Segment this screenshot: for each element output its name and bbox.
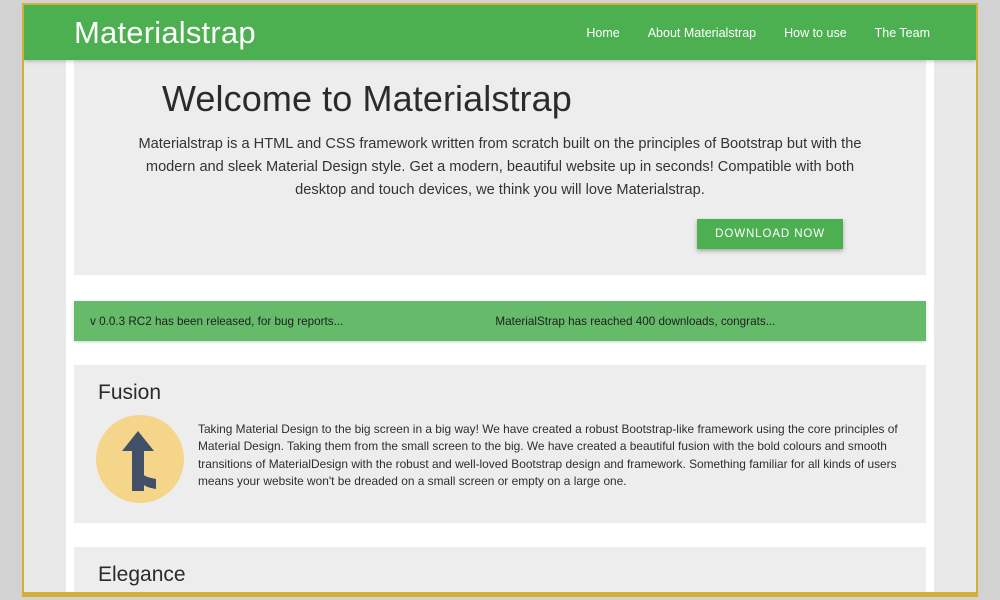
nav-link-home[interactable]: Home xyxy=(586,26,619,40)
feature-text-fusion: Taking Material Design to the big screen… xyxy=(198,415,900,491)
feature-body-fusion: Taking Material Design to the big screen… xyxy=(96,415,900,503)
feature-title-fusion: Fusion xyxy=(98,381,900,405)
brand-logo[interactable]: Materialstrap xyxy=(74,15,256,51)
announcement-item-downloads[interactable]: MaterialStrap has reached 400 downloads,… xyxy=(495,315,775,328)
announcement-item-release[interactable]: v 0.0.3 RC2 has been released, for bug r… xyxy=(90,315,343,328)
feature-card-elegance: Elegance We believe xyxy=(74,547,926,597)
nav-link-how-to-use[interactable]: How to use xyxy=(784,26,847,40)
nav-link-the-team[interactable]: The Team xyxy=(875,26,930,40)
merge-arrow-icon xyxy=(96,415,184,503)
nav-link-about-materialstrap[interactable]: About Materialstrap xyxy=(648,26,756,40)
page-scroll-area[interactable]: Welcome to Materialstrap Materialstrap i… xyxy=(24,60,976,597)
gutter-left xyxy=(24,60,66,597)
feature-title-elegance: Elegance xyxy=(98,563,900,587)
announcement-banner: v 0.0.3 RC2 has been released, for bug r… xyxy=(74,301,926,341)
page-title: Welcome to Materialstrap xyxy=(162,78,896,120)
gutter-right xyxy=(934,60,976,597)
navbar: Materialstrap Home About Materialstrap H… xyxy=(24,5,976,60)
browser-screenshot: Materialstrap Home About Materialstrap H… xyxy=(0,0,1000,600)
nav-links: Home About Materialstrap How to use The … xyxy=(586,26,930,40)
hero-jumbotron: Welcome to Materialstrap Materialstrap i… xyxy=(74,60,926,275)
content-container: Welcome to Materialstrap Materialstrap i… xyxy=(66,60,934,597)
hero-button-row: DOWNLOAD NOW xyxy=(104,219,896,249)
download-now-button[interactable]: DOWNLOAD NOW xyxy=(697,219,843,249)
hero-paragraph: Materialstrap is a HTML and CSS framewor… xyxy=(104,133,896,202)
feature-card-fusion: Fusion Taking Material Design to the big… xyxy=(74,365,926,523)
browser-frame: Materialstrap Home About Materialstrap H… xyxy=(22,3,978,597)
